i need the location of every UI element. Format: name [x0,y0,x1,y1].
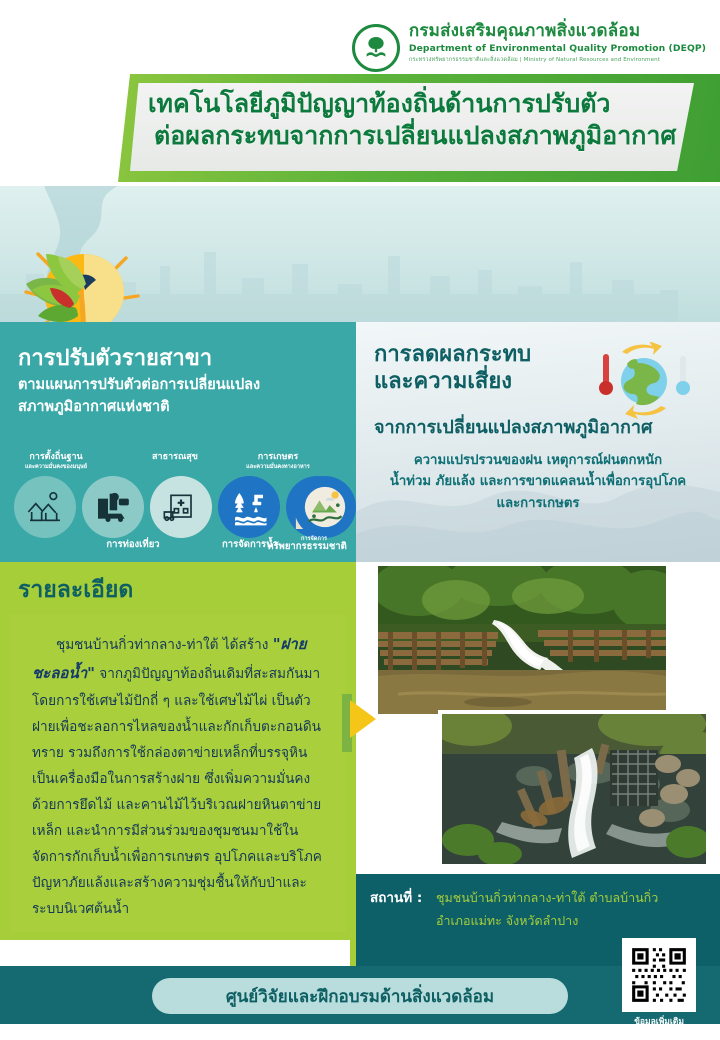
yellow-triangle-arrow-icon [342,694,378,752]
impact-heading-line1: การลดผลกระทบ [374,342,531,367]
banner-title-line1: เทคโนโลยีภูมิปัญญาท้องถิ่นด้านการปรับตัว [148,88,680,120]
tourism-city-car-icon[interactable] [82,476,144,538]
public-health-hospital-icon[interactable] [150,476,212,538]
location-value: ชุมชนบ้านกิ่วท่ากลาง-ท่าใต้ ตำบลบ้านกิ่ว… [436,886,666,932]
impact-body-line2: น้ำท่วม ภัยแล้ง และการขาดแคลนน้ำเพื่อการ… [390,474,686,489]
location-line2: อำเภอแม่ทะ จังหวัดลำปาง [436,913,578,928]
poster-root: กรมส่งเสริมคุณภาพสิ่งแวดล้อม Department … [0,0,720,1040]
banner-title: เทคโนโลยีภูมิปัญญาท้องถิ่นด้านการปรับตัว… [148,88,680,151]
details-body: ชุมชนบ้านกิ่วท่ากลาง-ท่าใต้ ได้สร้าง "ฝา… [32,630,328,922]
check-dam-wooden-weir-photo [374,562,670,718]
water-management-tap-icon[interactable] [218,476,280,538]
sector-subheading-line1: ตามแผนการปรับตัวต่อการเปลี่ยนแปลง [18,377,260,393]
details-body-text: จากภูมิปัญญาท้องถิ่นเดิมที่สะสมกันมา โดย… [32,666,322,918]
sector-label-settlement: การตั้งถิ่นฐาน [2,452,110,462]
impact-body-line1: ความแปรปรวนของฝน เหตุการณ์ฝนตกหนัก [414,453,662,468]
org-name-th: กรมส่งเสริมคุณภาพสิ่งแวดล้อม [409,22,706,42]
lightbulb-leaf-map-pin-icon [14,238,150,322]
sector-icon-row: การตั้งถิ่นฐาน และความมั่นคงของมนุษย์ สา… [0,452,356,554]
impact-panel-body: ความแปรปรวนของฝน เหตุการณ์ฝนตกหนัก น้ำท่… [370,450,706,514]
details-panel: รายละเอียด ชุมชนบ้านกิ่วท่ากลาง-ท่าใต้ ไ… [0,562,356,940]
poster-header: กรมส่งเสริมคุณภาพสิ่งแวดล้อม Department … [0,0,720,196]
sector-subheading-line2: สภาพภูมิอากาศแห่งชาติ [18,399,170,415]
natural-resources-mountain-icon[interactable] [294,476,356,538]
deqp-tree-seal-icon [352,24,400,72]
sector-label-health: สาธารณสุข [130,452,220,462]
sector-panel-heading: การปรับตัวรายสาขา [18,340,212,375]
check-dam-gabion-stream-photo [438,710,710,868]
org-name-en: Department of Environmental Quality Prom… [409,43,706,54]
cold-thermometer [676,356,690,395]
bottom-white-strip [0,1024,720,1040]
sector-label-agriculture: การเกษตร [226,452,330,462]
details-heading: รายละเอียด [18,572,133,608]
sector-sublabel-agriculture: และความมั่นคงทางอาหาร [226,464,330,470]
title-banner: เทคโนโลยีภูมิปัญญาท้องถิ่นด้านการปรับตัว… [118,74,720,182]
impact-reduction-panel: การลดผลกระทบ และความเสี่ยง จากการเปลี่ยน… [356,322,720,562]
details-intro: ชุมชนบ้านกิ่วท่ากลาง-ท่าใต้ ได้สร้าง [56,637,273,653]
location-label: สถานที่ : [370,886,422,908]
sector-label-natural: ทรัพยากรธรรมชาติ [258,542,356,553]
banner-title-line2: ต่อผลกระทบจากการเปลี่ยนแปลงสภาพภูมิอากาศ [148,120,680,152]
settlement-houses-icon[interactable] [14,476,76,538]
hot-thermometer [599,354,613,395]
technology-name-band: ชื่อเทคโนโลยี : "ฝายชะลอน้ำ" ภูมิปัญญาท้… [0,186,720,322]
sector-panel-subheading: ตามแผนการปรับตัวต่อการเปลี่ยนแปลง สภาพภู… [18,374,344,419]
sector-sublabel-settlement: และความมั่นคงของมนุษย์ [2,464,110,470]
impact-body-line3: และการเกษตร [497,496,580,511]
globe-thermometer-climate-icon [592,342,696,420]
footer-center-label[interactable]: ศูนย์วิจัยและฝึกอบรมด้านสิ่งแวดล้อม [152,978,568,1014]
sector-label-tourism: การท่องเที่ยว [78,540,188,551]
org-ministry: กระทรวงทรัพยากรธรรมชาติและสิ่งแวดล้อม | … [409,56,706,64]
deqp-org-logo: กรมส่งเสริมคุณภาพสิ่งแวดล้อม Department … [352,22,706,72]
impact-panel-heading: การลดผลกระทบ และความเสี่ยง [374,342,531,396]
qr-code-icon[interactable] [622,938,696,1012]
details-inner-box: ชุมชนบ้านกิ่วท่ากลาง-ท่าใต้ ได้สร้าง "ฝา… [10,614,346,932]
impact-heading-line2: และความเสี่ยง [374,369,512,394]
location-line1: ชุมชนบ้านกิ่วท่ากลาง-ท่าใต้ ตำบลบ้านกิ่ว [436,890,658,905]
